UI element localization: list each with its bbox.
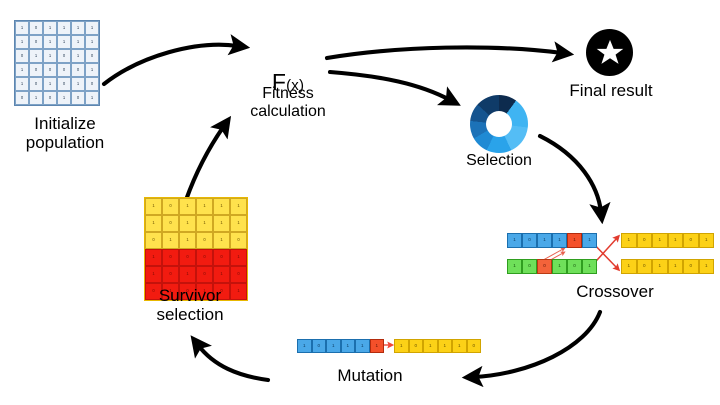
grid-cell: 0 [85,77,99,91]
grid-cell: 1 [85,21,99,35]
arrow-mutation-to-survivor [198,345,268,380]
bit: 1 [699,259,715,274]
genetic-algorithm-diagram: 1 0 1 1 1 1 1 0 1 1 1 1 0 1 1 0 1 0 [0,0,720,405]
arrow-selection-to-crossover [540,136,601,212]
bit: 0 [522,259,537,274]
grid-cell: 0 [57,63,71,77]
grid-cell: 1 [145,215,162,232]
grid-cell: 0 [213,249,230,266]
grid-cell: 1 [196,198,213,215]
crossover-parent-a: 1 0 1 1 1 1 [507,233,597,248]
final-result-badge [586,29,633,76]
grid-cell: 0 [179,249,196,266]
mutation-after: 1 0 1 1 1 0 [394,339,481,353]
fitness-label: Fitness calculation [238,85,338,121]
grid-cell: 1 [71,21,85,35]
grid-cell: 1 [230,249,247,266]
grid-cell: 1 [213,266,230,283]
bit: 1 [621,259,637,274]
arrow-fitness-to-final [327,47,562,58]
grid-cell: 1 [15,21,29,35]
grid-cell: 1 [43,77,57,91]
crossover-label: Crossover [530,282,700,301]
bit: 0 [637,259,653,274]
grid-cell: 1 [57,91,71,105]
bit: 1 [699,233,715,248]
grid-cell: 0 [29,21,43,35]
bit: 1 [652,233,668,248]
grid-cell: 0 [162,198,179,215]
grid-cell: 1 [162,232,179,249]
grid-cell: 1 [15,63,29,77]
grid-cell: 0 [196,266,213,283]
bit: 1 [423,339,438,353]
grid-cell: 0 [71,63,85,77]
grid-cell: 0 [162,249,179,266]
grid-cell: 1 [15,35,29,49]
node-survivor-selection: 1 0 1 1 1 1 1 0 1 1 1 1 0 1 1 0 1 0 [145,198,247,300]
bit-mutated: 1 [370,339,385,353]
bit: 1 [668,233,684,248]
grid-cell: 1 [57,21,71,35]
bit: 1 [537,233,552,248]
grid-cell: 1 [71,35,85,49]
grid-cell: 1 [230,215,247,232]
grid-row: 1 0 1 0 1 0 [15,77,99,91]
final-result-label: Final result [547,81,675,100]
grid-cell: 0 [29,63,43,77]
bit: 1 [507,233,522,248]
selection-node [470,95,528,153]
grid-row: 1 0 0 0 0 1 [145,249,247,266]
grid-cell: 1 [213,198,230,215]
grid-cell: 1 [29,49,43,63]
grid-row: 1 0 1 1 1 1 [145,198,247,215]
initialize-population-grid: 1 0 1 1 1 1 1 0 1 1 1 1 0 1 1 0 1 0 [14,20,100,106]
bit: 1 [452,339,467,353]
grid-cell: 0 [43,63,57,77]
grid-cell: 1 [85,35,99,49]
grid-row: 1 0 1 1 1 1 [145,215,247,232]
arrow-init-to-fitness [104,45,238,84]
donut-chart-icon [470,95,528,153]
grid-cell: 0 [57,77,71,91]
bit: 0 [312,339,327,353]
mutation-before: 1 0 1 1 1 1 [297,339,384,353]
grid-row: 0 1 0 1 0 1 [15,91,99,105]
grid-row: 0 1 1 0 1 0 [145,232,247,249]
grid-cell: 1 [179,215,196,232]
bit: 1 [297,339,312,353]
bit: 1 [552,259,567,274]
grid-cell: 1 [71,77,85,91]
grid-cell: 1 [43,49,57,63]
grid-cell: 0 [57,49,71,63]
grid-cell: 0 [85,49,99,63]
bit: 0 [522,233,537,248]
grid-cell: 1 [145,198,162,215]
grid-cell: 1 [179,266,196,283]
grid-cell: 0 [162,215,179,232]
grid-row: 1 0 1 0 1 0 [145,266,247,283]
grid-cell: 0 [145,232,162,249]
grid-cell: 0 [230,266,247,283]
arrow-survivor-to-fitness [186,126,224,200]
donut-hole [486,111,512,137]
bit: 1 [552,233,567,248]
bit: 0 [637,233,653,248]
mutation-label: Mutation [300,366,440,385]
grid-cell: 1 [85,63,99,77]
bit: 1 [582,233,597,248]
bit: 1 [341,339,356,353]
grid-cell: 1 [213,215,230,232]
bit: 1 [438,339,453,353]
grid-cell: 0 [162,266,179,283]
grid-cell: 0 [230,232,247,249]
grid-row: 1 0 1 1 1 1 [15,35,99,49]
grid-cell: 0 [15,49,29,63]
grid-cell: 0 [196,249,213,266]
bit: 0 [467,339,482,353]
bit: 1 [326,339,341,353]
grid-cell: 1 [57,35,71,49]
bit: 1 [507,259,522,274]
grid-cell: 0 [29,77,43,91]
grid-cell: 1 [15,77,29,91]
grid-cell: 1 [71,49,85,63]
bit-crossover-point: 0 [537,259,552,274]
grid-cell: 1 [145,266,162,283]
grid-cell: 0 [196,232,213,249]
bit: 1 [668,259,684,274]
grid-cell: 1 [230,198,247,215]
crossover-child-a: 1 0 1 1 0 1 [621,233,714,248]
grid-cell: 0 [15,91,29,105]
bit: 1 [355,339,370,353]
grid-row: 0 1 1 0 1 0 [15,49,99,63]
bit: 1 [652,259,668,274]
bit: 0 [683,233,699,248]
star-icon [595,38,625,67]
survivor-selection-label: Survivor selection [124,286,256,324]
bit: 0 [683,259,699,274]
arrow-crossover-to-mutation [474,312,600,377]
grid-cell: 0 [29,35,43,49]
grid-row: 1 0 0 0 0 1 [15,63,99,77]
selection-label: Selection [438,152,560,170]
bit: 1 [621,233,637,248]
initialize-population-label: Initialize population [0,114,130,152]
grid-cell: 1 [29,91,43,105]
grid-cell: 0 [71,91,85,105]
grid-cell: 0 [43,91,57,105]
node-initialize-population: 1 0 1 1 1 1 1 0 1 1 1 1 0 1 1 0 1 0 [14,20,100,106]
grid-cell: 1 [145,249,162,266]
crossover-parent-b: 1 0 0 1 0 1 [507,259,597,274]
grid-cell: 1 [43,35,57,49]
bit-crossover-point: 1 [567,233,582,248]
bit: 0 [409,339,424,353]
arrow-fitness-to-selection [330,72,450,100]
crossover-child-b: 1 0 1 1 0 1 [621,259,714,274]
grid-row: 1 0 1 1 1 1 [15,21,99,35]
bit: 1 [394,339,409,353]
grid-cell: 1 [179,198,196,215]
survivor-selection-grid: 1 0 1 1 1 1 1 0 1 1 1 1 0 1 1 0 1 0 [145,198,247,300]
grid-cell: 1 [213,232,230,249]
grid-cell: 1 [85,91,99,105]
grid-cell: 1 [179,232,196,249]
grid-cell: 1 [43,21,57,35]
bit: 1 [582,259,597,274]
bit: 0 [567,259,582,274]
grid-cell: 1 [196,215,213,232]
